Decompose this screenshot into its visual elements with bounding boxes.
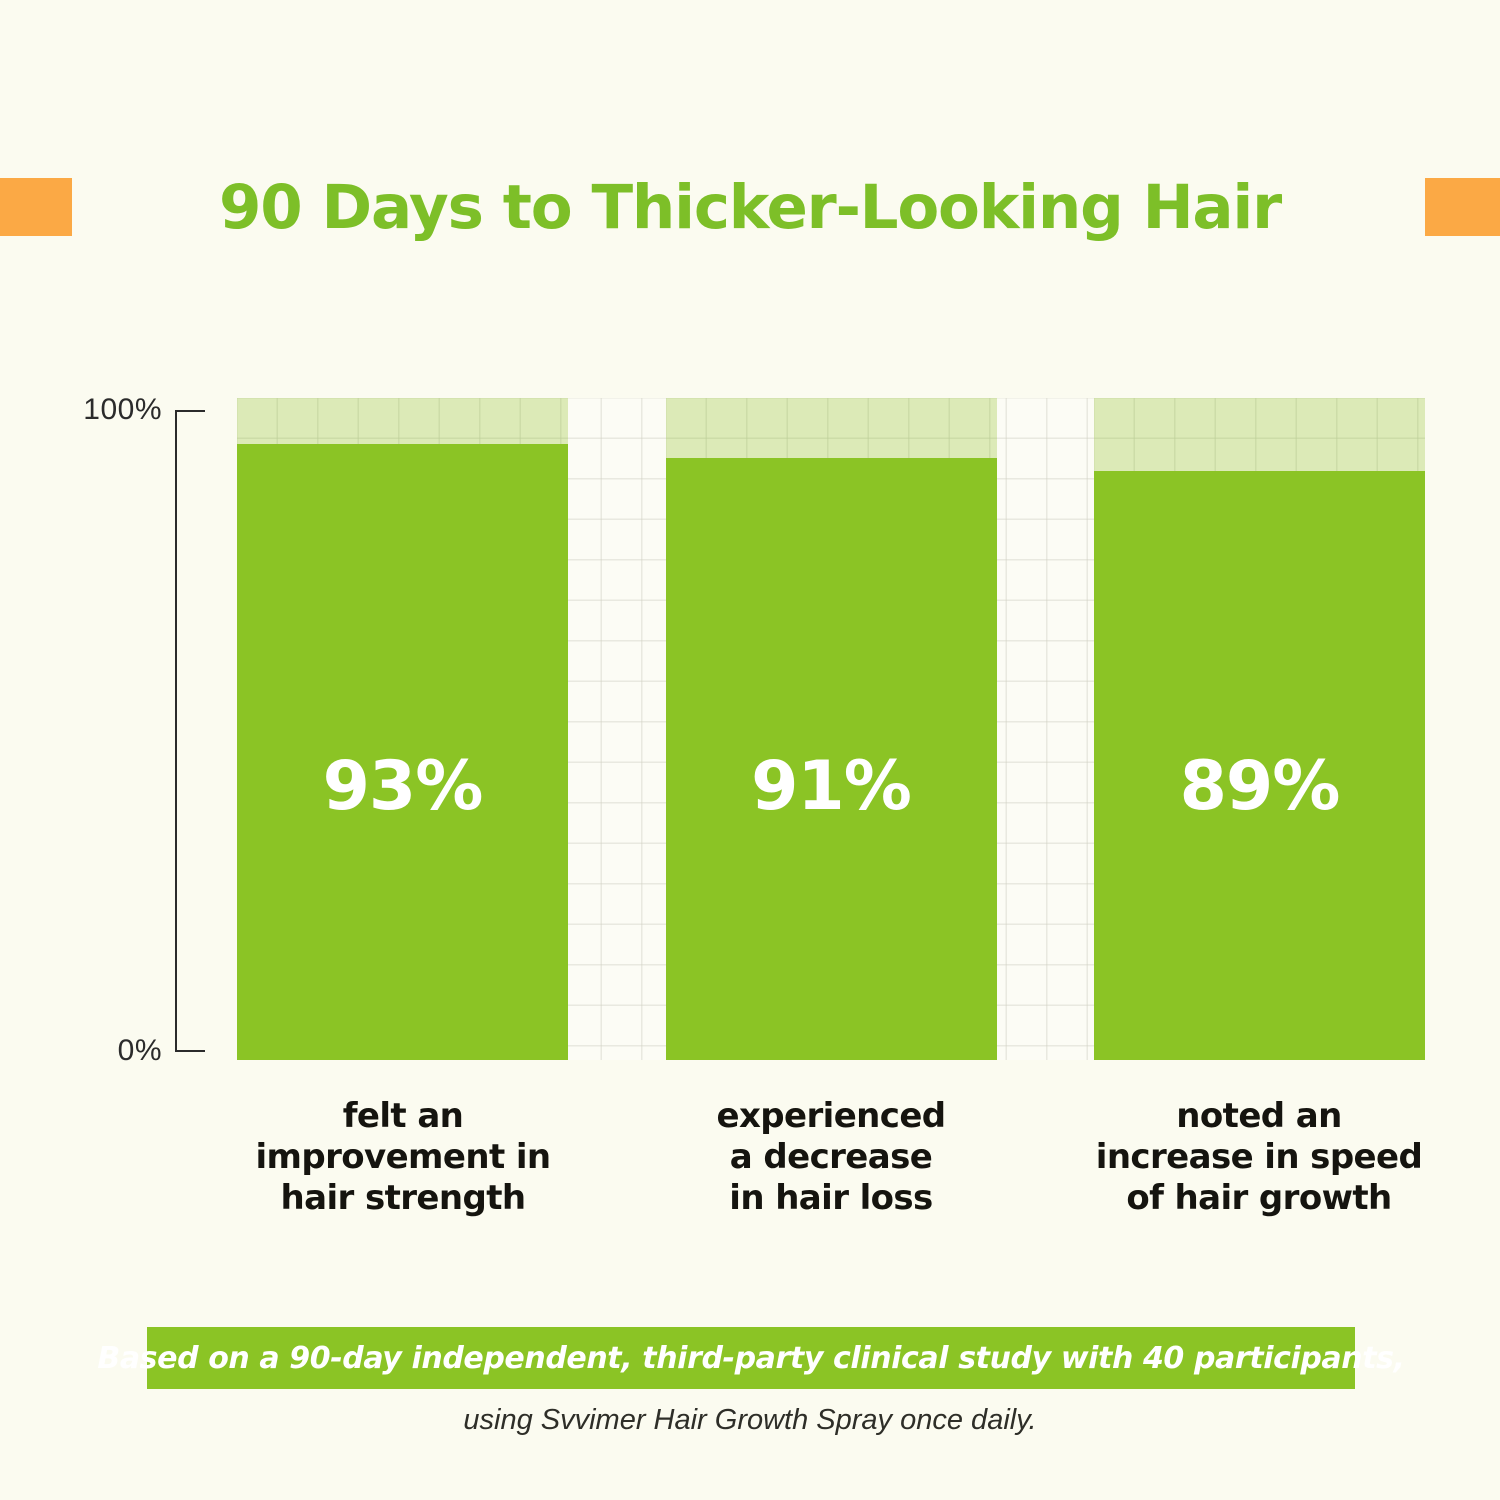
bar-value-label-3: 89%	[1094, 753, 1425, 821]
category-label-2-line-3: in hair loss	[631, 1178, 1031, 1219]
category-label-1: felt an improvement in hair strength	[203, 1096, 603, 1219]
footer-note-text: using Svvimer Hair Growth Spray once dai…	[0, 1404, 1500, 1437]
category-label-2: experienced a decrease in hair loss	[631, 1096, 1031, 1219]
category-label-3-line-3: of hair growth	[1059, 1178, 1459, 1219]
bar-series: 93% 91% 89%	[237, 398, 1425, 1060]
plot-area: 93% 91% 89%	[237, 398, 1425, 1060]
category-label-2-line-2: a decrease	[631, 1137, 1031, 1178]
bar-value-label-1: 93%	[237, 753, 568, 821]
category-label-1-line-1: felt an	[203, 1096, 603, 1137]
footer-banner: Based on a 90-day independent, third-par…	[147, 1327, 1355, 1389]
category-label-1-line-2: improvement in	[203, 1137, 603, 1178]
category-label-2-line-1: experienced	[631, 1096, 1031, 1137]
bar-value-label-2: 91%	[666, 753, 997, 821]
category-axis-labels: felt an improvement in hair strength exp…	[237, 1096, 1425, 1219]
bar-column-3: 89%	[1094, 398, 1425, 1060]
category-label-3-line-1: noted an	[1059, 1096, 1459, 1137]
bar-chart: 100% 0% 93% 91% 89% felt an i	[0, 0, 1500, 1500]
category-label-3-line-2: increase in speed	[1059, 1137, 1459, 1178]
y-axis-tick-label-100: 100%	[83, 393, 162, 427]
footer-banner-text: Based on a 90-day independent, third-par…	[97, 1341, 1404, 1376]
category-label-1-line-3: hair strength	[203, 1178, 603, 1219]
category-label-3: noted an increase in speed of hair growt…	[1059, 1096, 1459, 1219]
y-axis-bracket	[175, 410, 205, 1052]
bar-column-1: 93%	[237, 398, 568, 1060]
bar-column-2: 91%	[666, 398, 997, 1060]
y-axis-tick-label-0: 0%	[118, 1034, 162, 1068]
